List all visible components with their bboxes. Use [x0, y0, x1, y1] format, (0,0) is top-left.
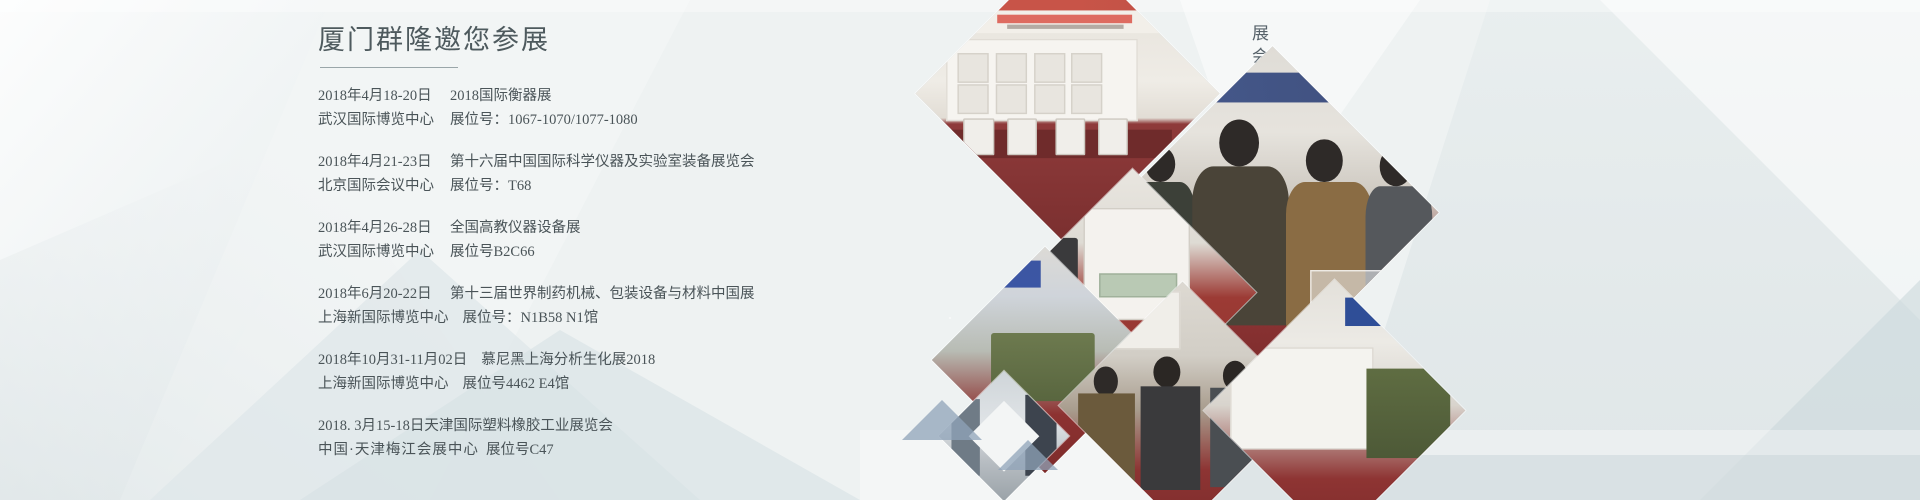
event-date: 2018年6月20-22日 — [318, 283, 436, 306]
event-secondary-row: 上海新国际博览中心展位号4462 E4馆 — [318, 373, 938, 396]
event-booth: 展位号B2C66 — [436, 241, 535, 264]
event-date: 2018年4月26-28日 — [318, 217, 436, 240]
event-primary-row: 2018. 3月15-18日天津国际塑料橡胶工业展览会 — [318, 415, 938, 438]
event-name: 第十三届世界制药机械、包装设备与材料中国展 — [436, 283, 755, 306]
event-item: 2018年4月18-20日2018国际衡器展 武汉国际博览中心展位号：1067-… — [318, 85, 938, 132]
event-date: 2018年4月18-20日 — [318, 85, 436, 108]
event-item: 2018年4月26-28日全国高教仪器设备展 武汉国际博览中心展位号B2C66 — [318, 217, 938, 264]
title-underline — [320, 67, 458, 68]
event-secondary-row: 武汉国际博览中心展位号：1067-1070/1077-1080 — [318, 109, 938, 132]
event-venue: 上海新国际博览中心 — [318, 373, 449, 396]
page-title: 厦门群隆邀您参展 — [318, 22, 938, 58]
event-item: 2018年4月21-23日第十六届中国国际科学仪器及实验室装备展览会 北京国际会… — [318, 151, 938, 198]
event-venue: 中国·天津梅江会展中心 — [318, 439, 486, 462]
promo-banner: 厦门群隆邀您参展 2018年4月18-20日2018国际衡器展 武汉国际博览中心… — [0, 0, 1920, 500]
event-venue: 上海新国际博览中心 — [318, 307, 449, 330]
event-booth: 展位号4462 E4馆 — [449, 373, 570, 396]
event-booth: 展位号：N1B58 N1馆 — [449, 307, 599, 330]
event-item: 2018年6月20-22日第十三届世界制药机械、包装设备与材料中国展 上海新国际… — [318, 283, 938, 330]
photo-collage — [1020, 0, 1460, 500]
event-date: 2018. 3月15-18日天津国际塑料橡胶工业展览会 — [318, 415, 613, 438]
event-name: 全国高教仪器设备展 — [436, 217, 581, 240]
event-secondary-row: 北京国际会议中心展位号：T68 — [318, 175, 938, 198]
event-booth: 展位号：T68 — [436, 175, 531, 198]
event-secondary-row: 中国·天津梅江会展中心展位号C47 — [318, 439, 938, 462]
events-list: 2018年4月18-20日2018国际衡器展 武汉国际博览中心展位号：1067-… — [318, 85, 938, 462]
event-venue: 武汉国际博览中心 — [318, 241, 436, 264]
event-date: 2018年10月31-11月02日 — [318, 349, 467, 372]
event-name: 第十六届中国国际科学仪器及实验室装备展览会 — [436, 151, 755, 174]
event-primary-row: 2018年6月20-22日第十三届世界制药机械、包装设备与材料中国展 — [318, 283, 938, 306]
event-primary-row: 2018年4月21-23日第十六届中国国际科学仪器及实验室装备展览会 — [318, 151, 938, 174]
event-item: 2018. 3月15-18日天津国际塑料橡胶工业展览会 中国·天津梅江会展中心展… — [318, 415, 938, 462]
event-name: 慕尼黑上海分析生化展2018 — [467, 349, 655, 372]
event-venue: 北京国际会议中心 — [318, 175, 436, 198]
event-primary-row: 2018年4月26-28日全国高教仪器设备展 — [318, 217, 938, 240]
event-booth: 展位号：1067-1070/1077-1080 — [436, 109, 638, 132]
event-item: 2018年10月31-11月02日慕尼黑上海分析生化展2018 上海新国际博览中… — [318, 349, 938, 396]
event-secondary-row: 上海新国际博览中心展位号：N1B58 N1馆 — [318, 307, 938, 330]
accent-triangle-icon — [902, 400, 982, 440]
event-primary-row: 2018年10月31-11月02日慕尼黑上海分析生化展2018 — [318, 349, 938, 372]
accent-triangle-icon — [998, 440, 1058, 470]
event-name: 2018国际衡器展 — [436, 85, 552, 108]
event-date: 2018年4月21-23日 — [318, 151, 436, 174]
event-secondary-row: 武汉国际博览中心展位号B2C66 — [318, 241, 938, 264]
event-booth: 展位号C47 — [486, 439, 554, 462]
events-text-column: 厦门群隆邀您参展 2018年4月18-20日2018国际衡器展 武汉国际博览中心… — [318, 22, 938, 462]
event-primary-row: 2018年4月18-20日2018国际衡器展 — [318, 85, 938, 108]
event-venue: 武汉国际博览中心 — [318, 109, 436, 132]
